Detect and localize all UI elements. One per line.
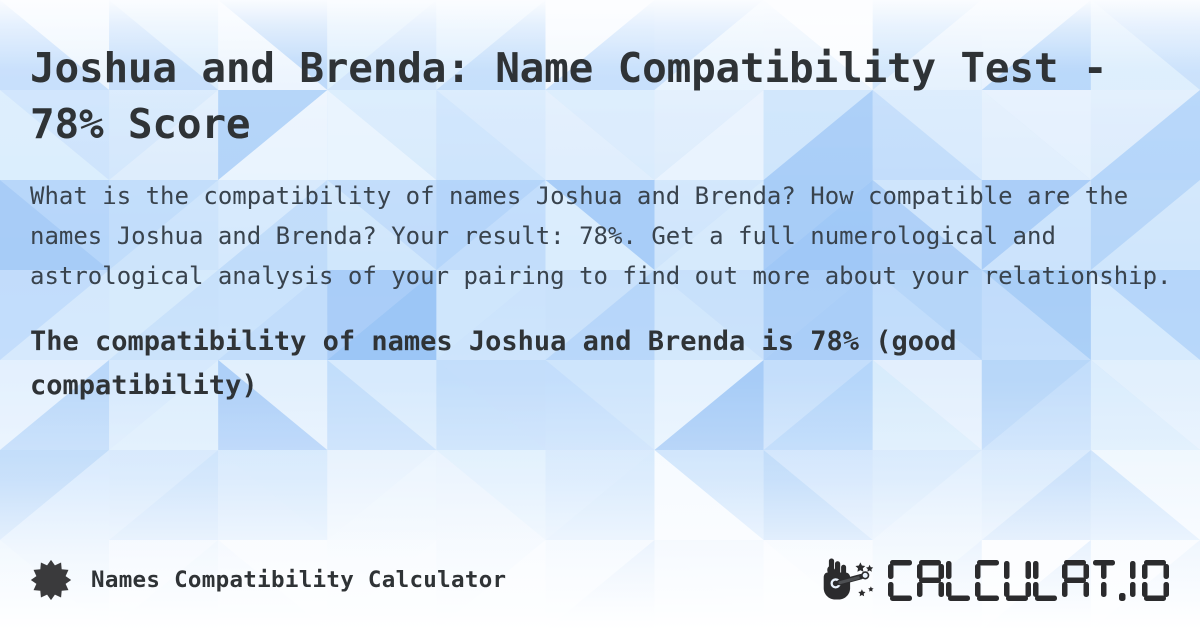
- calculatio-wordmark: [887, 558, 1172, 602]
- hand-magic-wand-icon: [823, 556, 881, 604]
- calculatio-logo[interactable]: [823, 556, 1172, 604]
- card-footer: Names Compatibility Calculator: [30, 552, 1172, 608]
- card-content: Joshua and Brenda: Name Compatibility Te…: [0, 0, 1200, 630]
- compatibility-result: The compatibility of names Joshua and Br…: [30, 320, 1172, 408]
- brand-block: Names Compatibility Calculator: [30, 559, 506, 601]
- page-description: What is the compatibility of names Joshu…: [30, 176, 1172, 296]
- share-card: Joshua and Brenda: Name Compatibility Te…: [0, 0, 1200, 630]
- starburst-badge-icon: [30, 559, 72, 601]
- brand-name-label: Names Compatibility Calculator: [91, 567, 506, 593]
- page-title: Joshua and Brenda: Name Compatibility Te…: [30, 40, 1170, 152]
